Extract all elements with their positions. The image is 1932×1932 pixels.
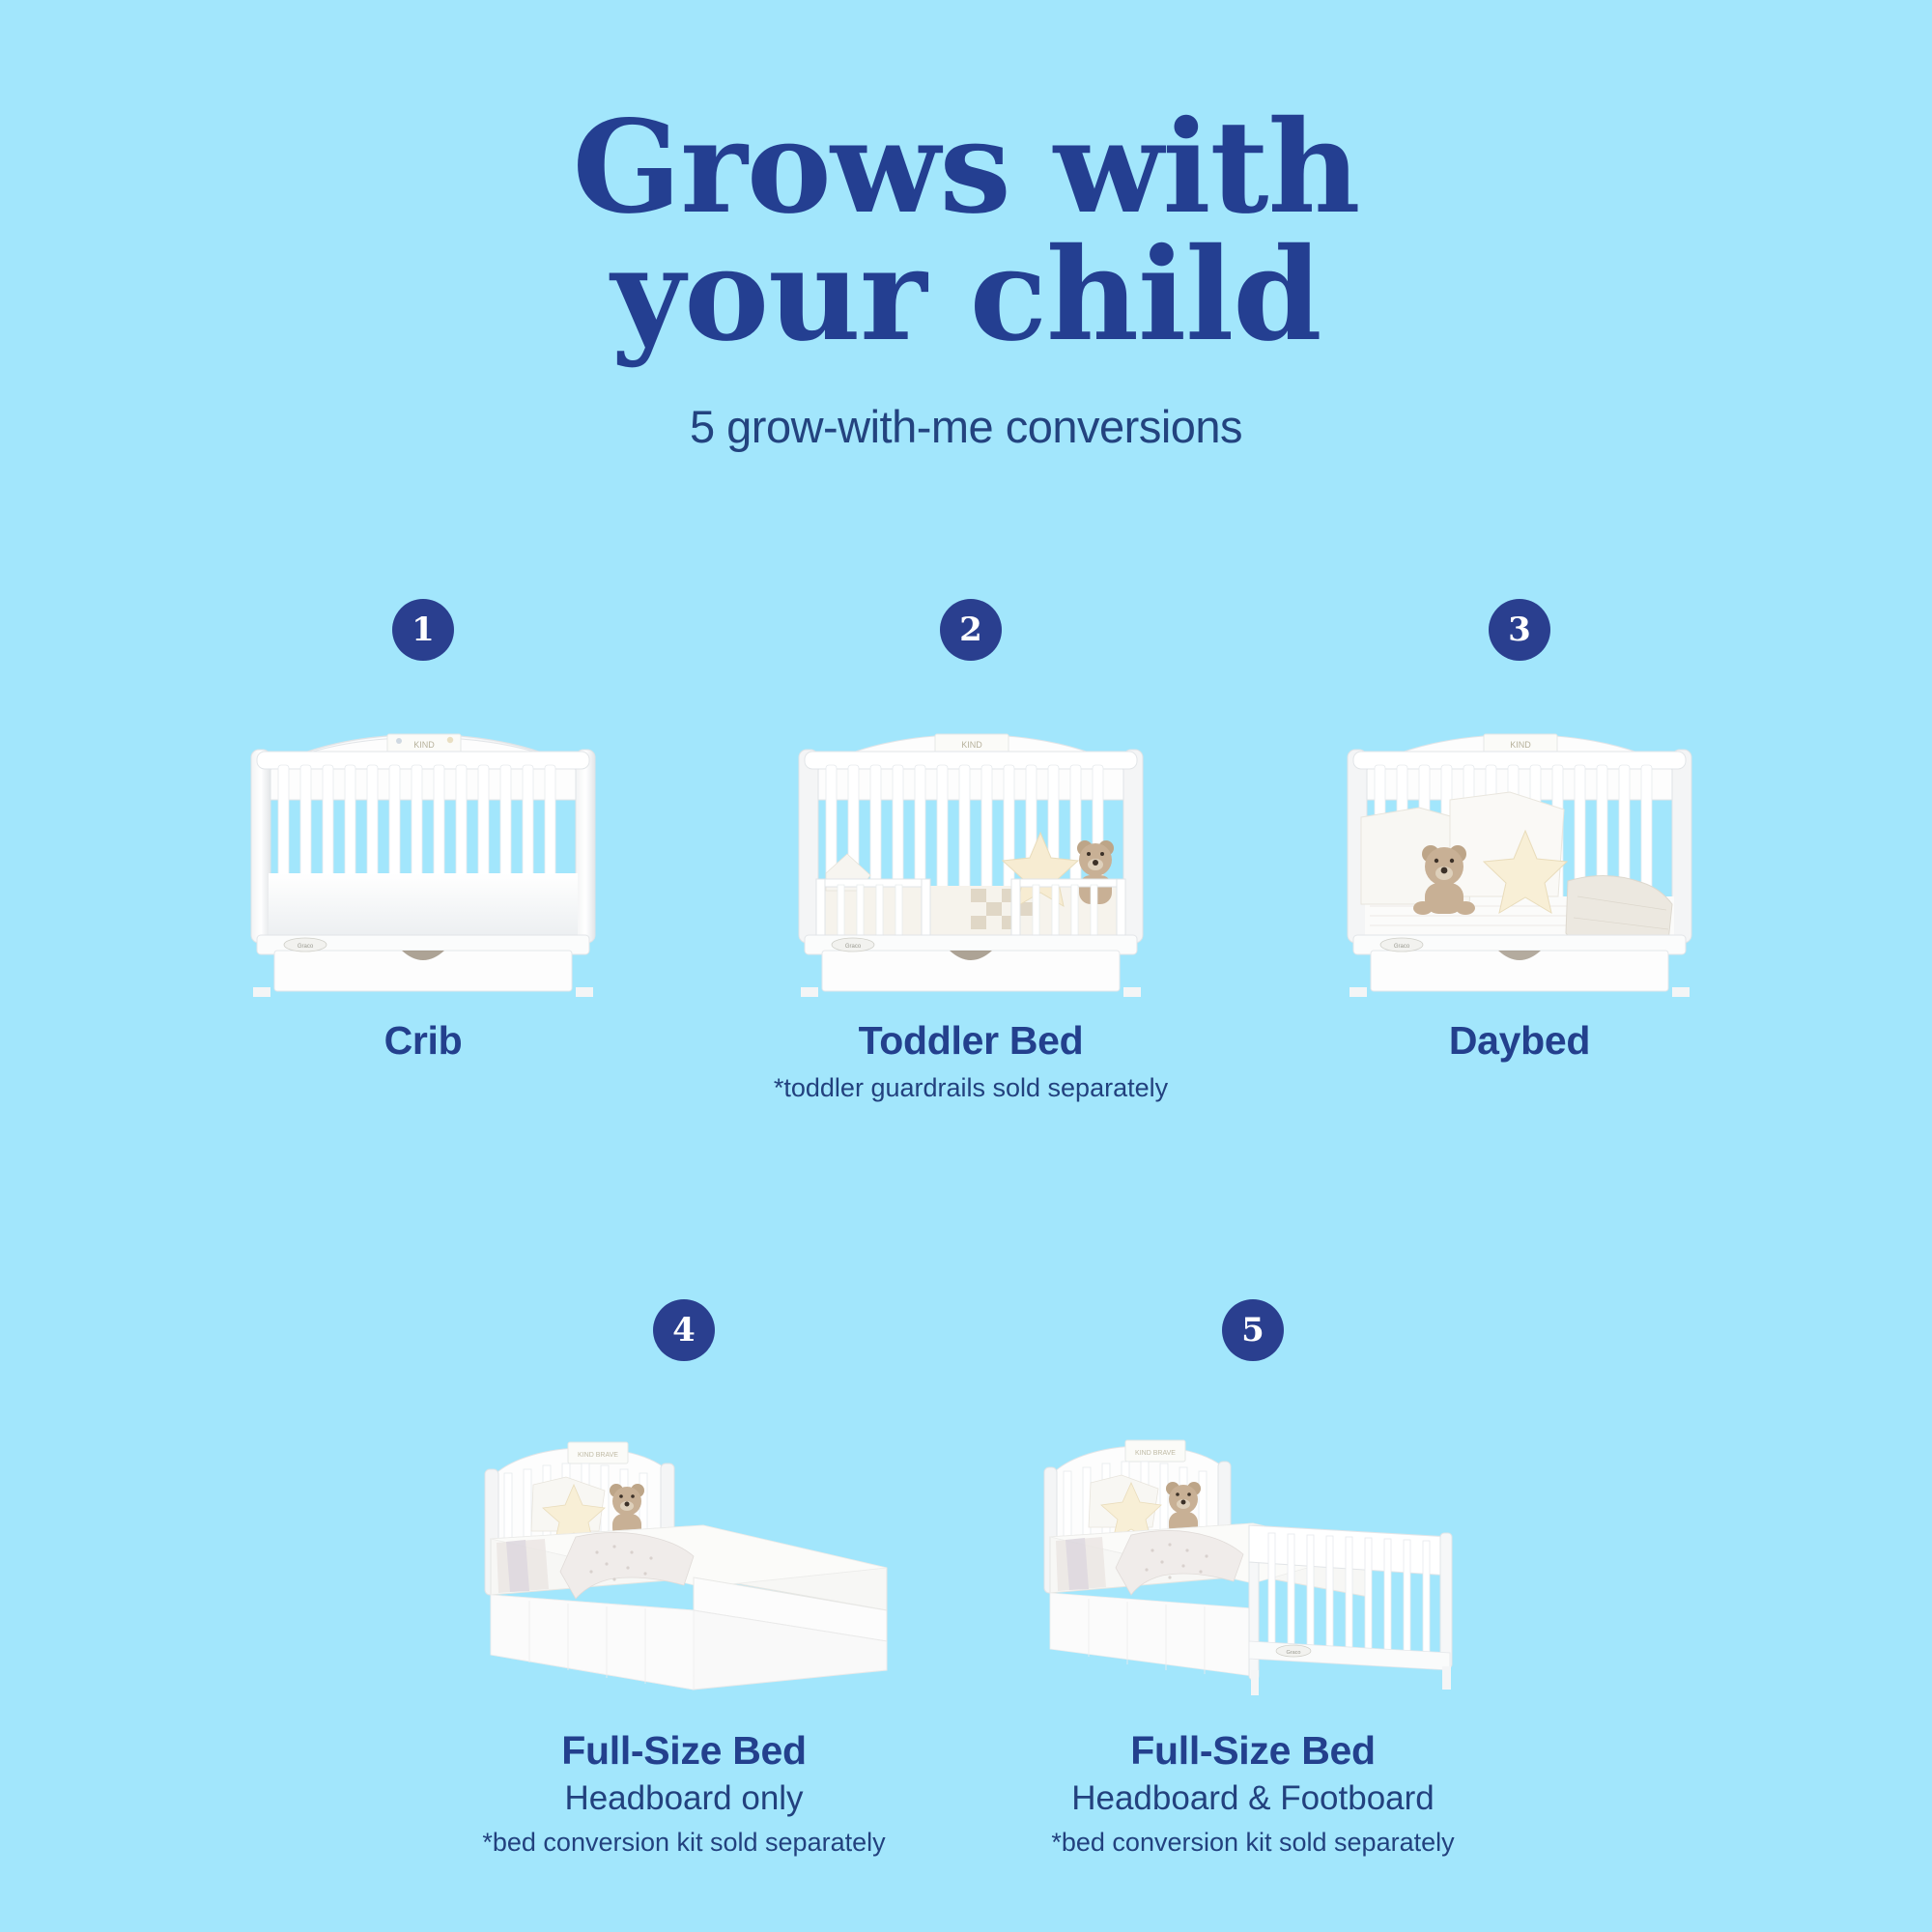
svg-text:Graco: Graco bbox=[1287, 1650, 1301, 1656]
footboard: Graco bbox=[1249, 1525, 1452, 1695]
crib-illustration: KIND BRAVE bbox=[162, 707, 684, 997]
crib-caption: Crib bbox=[162, 1018, 684, 1064]
conversion-item-crib: 1 KIND bbox=[162, 599, 684, 1064]
full-bed-headboard-illustration: KIND BRAVE bbox=[423, 1407, 945, 1707]
svg-text:Graco: Graco bbox=[1394, 944, 1410, 950]
full-bed-headboard-footboard-illustration: KIND BRAVE bbox=[992, 1407, 1514, 1707]
full-bed-headboard-sub: Headboard only bbox=[423, 1779, 945, 1818]
full-bed-headboard-footboard-label: Full-Size Bed bbox=[992, 1728, 1514, 1774]
full-bed-headboard-footboard-sub: Headboard & Footboard bbox=[992, 1779, 1514, 1818]
toddler-bed-caption: Toddler Bed *toddler guardrails sold sep… bbox=[710, 1018, 1232, 1103]
full-bed-headboard-note: *bed conversion kit sold separately bbox=[423, 1828, 945, 1858]
toddler-bed-svg: KIND BRAVE bbox=[778, 707, 1164, 997]
svg-text:KIND: KIND bbox=[1510, 740, 1531, 750]
full-bed-headboard-svg: KIND BRAVE bbox=[462, 1417, 906, 1707]
page-subtitle: 5 grow-with-me conversions bbox=[0, 400, 1932, 453]
toddler-bed-label: Toddler Bed bbox=[710, 1018, 1232, 1064]
full-bed-headboard-label: Full-Size Bed bbox=[423, 1728, 945, 1774]
crib-svg: KIND BRAVE bbox=[230, 707, 616, 997]
header: Grows with your child 5 grow-with-me con… bbox=[0, 104, 1932, 453]
svg-text:KIND BRAVE: KIND BRAVE bbox=[578, 1452, 618, 1459]
full-bed-headboard-footboard-note: *bed conversion kit sold separately bbox=[992, 1828, 1514, 1858]
conversion-item-full-bed-headboard: 4 KIND BRAVE bbox=[423, 1299, 945, 1858]
step-badge-4: 4 bbox=[653, 1299, 715, 1361]
daybed-illustration: KIND BRAVE bbox=[1259, 707, 1780, 997]
full-bed-headboard-caption: Full-Size Bed Headboard only *bed conver… bbox=[423, 1728, 945, 1858]
full-bed-headboard-footboard-svg: KIND BRAVE bbox=[1031, 1417, 1475, 1707]
toddler-bed-note: *toddler guardrails sold separately bbox=[710, 1073, 1232, 1103]
svg-text:KIND: KIND bbox=[961, 740, 982, 750]
bed-skirt bbox=[1050, 1593, 1253, 1676]
daybed-label: Daybed bbox=[1259, 1018, 1780, 1064]
toddler-bed-illustration: KIND BRAVE bbox=[710, 707, 1232, 997]
conversion-item-daybed: 3 KIND BRAVE bbox=[1259, 599, 1780, 1064]
conversion-item-toddler-bed: 2 KIND BRAVE bbox=[710, 599, 1232, 1103]
svg-text:KIND BRAVE: KIND BRAVE bbox=[1135, 1450, 1176, 1457]
conversion-item-full-bed-headboard-footboard: 5 KIND BRAVE bbox=[992, 1299, 1514, 1858]
svg-text:Graco: Graco bbox=[298, 944, 314, 950]
svg-text:Graco: Graco bbox=[845, 944, 862, 950]
svg-text:KIND: KIND bbox=[413, 740, 435, 750]
step-badge-5: 5 bbox=[1222, 1299, 1284, 1361]
crib-label: Crib bbox=[162, 1018, 684, 1064]
full-bed-headboard-footboard-caption: Full-Size Bed Headboard & Footboard *bed… bbox=[992, 1728, 1514, 1858]
title-line-2: your child bbox=[0, 232, 1932, 359]
daybed-svg: KIND BRAVE bbox=[1326, 707, 1713, 997]
step-badge-3: 3 bbox=[1489, 599, 1550, 661]
daybed-caption: Daybed bbox=[1259, 1018, 1780, 1064]
page-title: Grows with your child bbox=[0, 104, 1932, 359]
infographic-page: Grows with your child 5 grow-with-me con… bbox=[0, 0, 1932, 1932]
step-badge-1: 1 bbox=[392, 599, 454, 661]
step-badge-2: 2 bbox=[940, 599, 1002, 661]
